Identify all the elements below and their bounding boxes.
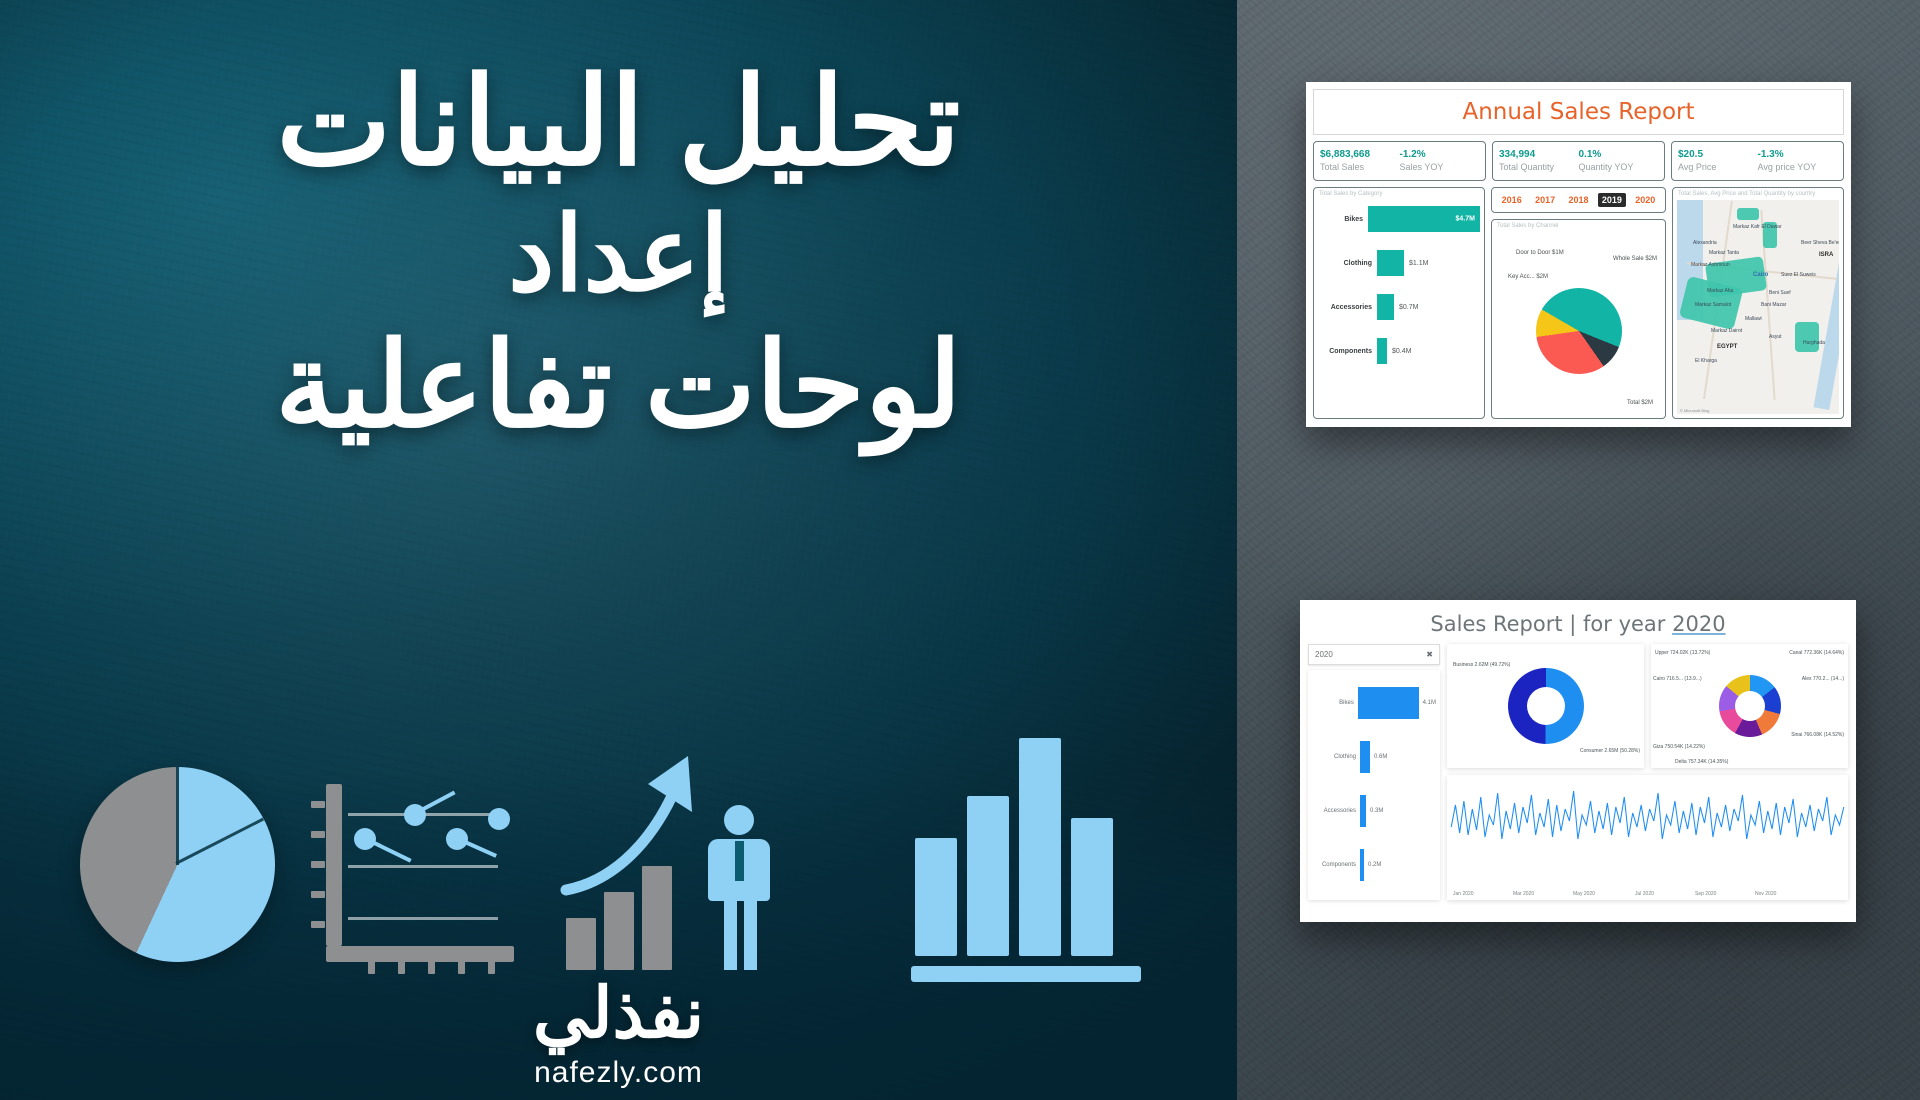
map-label: Beni Suef xyxy=(1769,290,1791,296)
line-chart-icon-tick xyxy=(311,891,325,898)
map-attribution: © Microsoft Bing xyxy=(1680,408,1709,413)
bar-track: $1.1M xyxy=(1377,250,1480,276)
hero-icon-row xyxy=(0,712,1237,982)
donut-row: Business 2.62M (49.72%) Consumer 2.65M (… xyxy=(1447,644,1848,768)
dashboard1-middle-column: 2016 2017 2018 2019 2020 Total Sales by … xyxy=(1491,187,1666,419)
bar-value-label: $1.1M xyxy=(1409,260,1428,267)
kpi-value-block: $6,883,668 Total Sales xyxy=(1320,146,1400,176)
bar-category-label: Clothing xyxy=(1318,260,1377,267)
bar-value-label: 0.6M xyxy=(1374,754,1387,760)
bar-fill xyxy=(1360,849,1364,881)
map-region-highlight xyxy=(1737,208,1759,220)
donut-label-business: Business 2.62M (49.72%) xyxy=(1453,662,1510,668)
line-chart-icon-point xyxy=(354,828,376,850)
line-chart-icon-gridline xyxy=(348,865,498,868)
x-axis-tick-label: Jan 2020 xyxy=(1453,891,1474,897)
bar-chart-icon xyxy=(905,712,1145,982)
pie-chart-title: Total Sales by Channel xyxy=(1492,220,1665,229)
kpi-delta-value: -1.2% xyxy=(1400,149,1480,162)
sales-report-2020-dashboard[interactable]: Sales Report | for year 2020 2020 ✖ Bike… xyxy=(1300,600,1856,922)
line-chart-graphic xyxy=(1447,775,1848,859)
kpi-delta-label: Quantity YOY xyxy=(1579,162,1659,173)
brand-name-arabic: نفذلي xyxy=(0,972,1237,1054)
kpi-card-row: $6,883,668 Total Sales -1.2% Sales YOY 3… xyxy=(1313,141,1844,181)
person-leg xyxy=(744,900,757,970)
bar-value-label: $0.7M xyxy=(1399,304,1418,311)
pie-chart-icon-divider-2 xyxy=(176,765,179,865)
sales-by-country-map[interactable]: Total Sales, Avg Price and Total Quantit… xyxy=(1672,187,1844,419)
line-chart-icon xyxy=(318,778,518,968)
year-option-2020[interactable]: 2020 xyxy=(1631,193,1659,207)
dashboard2-right-column: Business 2.62M (49.72%) Consumer 2.65M (… xyxy=(1447,644,1848,900)
bar-value-label: 0.2M xyxy=(1368,862,1381,868)
bar-category-label: Clothing xyxy=(1312,754,1360,760)
x-axis-tick-label: May 2020 xyxy=(1573,891,1595,897)
map-label: Markaz Ashmoun xyxy=(1691,262,1730,268)
year-slicer[interactable]: 2016 2017 2018 2019 2020 xyxy=(1491,187,1666,213)
donut-hole xyxy=(1527,687,1565,725)
bar-category-label: Components xyxy=(1312,862,1360,868)
map-label: Markaz Tanta xyxy=(1709,250,1739,256)
dashboard1-body: Total Sales by Category Bikes $4.7M Clot… xyxy=(1313,187,1844,419)
kpi-delta-label: Sales YOY xyxy=(1400,162,1480,173)
kpi-value-block: $20.5 Avg Price xyxy=(1678,146,1758,176)
map-label-cairo: Cairo xyxy=(1753,272,1768,278)
person-head xyxy=(724,805,754,835)
year-option-2016[interactable]: 2016 xyxy=(1498,193,1526,207)
kpi-label: Total Quantity xyxy=(1499,162,1579,173)
bar-value-label: $0.4M xyxy=(1392,348,1411,355)
donut-label-alex: Alex 770.2... (14...) xyxy=(1802,676,1844,682)
bar-row[interactable]: Clothing $1.1M xyxy=(1314,241,1484,285)
donut-label-delta: Delta 757.34K (14.35%) xyxy=(1675,759,1728,765)
bar-row[interactable]: Bikes $4.7M xyxy=(1314,197,1484,241)
map-label: Markaz Samalot xyxy=(1695,302,1731,308)
line-chart-icon-point xyxy=(488,808,510,830)
bar-fill xyxy=(1360,741,1370,773)
bar-track: $0.7M xyxy=(1377,294,1480,320)
bar-chart-icon-bar xyxy=(1071,818,1113,956)
map-label: Alexandria xyxy=(1693,240,1717,246)
line-chart-icon-tick xyxy=(311,801,325,808)
kpi-value-block: 334,994 Total Quantity xyxy=(1499,146,1579,176)
kpi-card-total-quantity[interactable]: 334,994 Total Quantity 0.1% Quantity YOY xyxy=(1492,141,1665,181)
map-label: Markaz Dairot xyxy=(1711,328,1742,334)
map-label: Asyut xyxy=(1769,334,1782,340)
sales-by-category-bar-chart-2020[interactable]: Bikes 4.1M Clothing 0.6M Accessories 0.3… xyxy=(1308,670,1440,900)
brand-logo: نفذلي nafezly.com xyxy=(0,972,1237,1090)
sales-by-channel-pie-chart[interactable]: Total Sales by Channel Key Acc... $2M Do… xyxy=(1491,219,1666,419)
year-filter-slicer[interactable]: 2020 ✖ xyxy=(1308,644,1440,665)
hero-title-line-3: لوحات تفاعلية xyxy=(0,316,1237,458)
bar-row[interactable]: Components 0.2M xyxy=(1312,838,1436,892)
bar-chart-title: Total Sales by Category xyxy=(1314,188,1484,197)
region-donut-graphic xyxy=(1719,675,1781,737)
dashboard2-left-column: 2020 ✖ Bikes 4.1M Clothing 0.6M xyxy=(1308,644,1440,900)
pie-label-total: Total $2M xyxy=(1627,400,1653,408)
bar-value-label: $4.7M xyxy=(1456,216,1475,223)
hero-title-line-2: إعداد xyxy=(0,194,1237,317)
bar-category-label: Bikes xyxy=(1312,700,1358,706)
bar-fill xyxy=(1377,250,1404,276)
x-axis-tick-label: Mar 2020 xyxy=(1513,891,1534,897)
kpi-value: 334,994 xyxy=(1499,149,1579,162)
bar-track: $0.4M xyxy=(1377,338,1480,364)
bar-row[interactable]: Components $0.4M xyxy=(1314,329,1484,373)
hero-panel: تحليل البيانات إعداد لوحات تفاعلية xyxy=(0,0,1237,1100)
kpi-delta-block: 0.1% Quantity YOY xyxy=(1579,146,1659,176)
x-axis-tick-label: Sep 2020 xyxy=(1695,891,1716,897)
kpi-card-avg-price[interactable]: $20.5 Avg Price -1.3% Avg price YOY xyxy=(1671,141,1844,181)
bar-row[interactable]: Accessories $0.7M xyxy=(1314,285,1484,329)
segment-donut-graphic xyxy=(1508,668,1584,744)
pie-label-door-to-door: Door to Door $1M xyxy=(1516,250,1564,258)
donut-label-upper: Upper 724.02K (13.72%) xyxy=(1655,650,1710,656)
map-title: Total Sales, Avg Price and Total Quantit… xyxy=(1673,188,1843,197)
map-region-highlight xyxy=(1795,322,1819,352)
bar-fill xyxy=(1377,294,1394,320)
x-axis-tick-label: Jul 2020 xyxy=(1635,891,1654,897)
kpi-delta-value: 0.1% xyxy=(1579,149,1659,162)
year-option-2017[interactable]: 2017 xyxy=(1531,193,1559,207)
bar-fill: $4.7M xyxy=(1368,206,1480,232)
donut-label-sinai: Sinai 766.08K (14.52%) xyxy=(1791,732,1844,738)
bar-chart-icon-bar xyxy=(967,796,1009,956)
kpi-delta-label: Avg price YOY xyxy=(1758,162,1838,173)
map-label: Hurghada xyxy=(1803,340,1825,346)
sales-by-category-bar-chart[interactable]: Total Sales by Category Bikes $4.7M Clot… xyxy=(1313,187,1485,419)
brand-domain: nafezly.com xyxy=(0,1056,1237,1090)
bar-category-label: Components xyxy=(1318,348,1377,355)
map-label: Markaz Abu xyxy=(1707,288,1733,294)
line-chart-icon-tick xyxy=(311,831,325,838)
line-chart-icon-gridline xyxy=(348,917,498,920)
sales-by-region-donut[interactable]: Canal 772.36K (14.64%) Alex 770.2... (14… xyxy=(1651,644,1848,768)
businessperson-icon xyxy=(700,805,780,970)
pie-label-whole-sale: Whole Sale $2M xyxy=(1613,256,1657,264)
pie-chart-graphic xyxy=(1536,288,1622,374)
line-chart-icon-point xyxy=(404,804,426,826)
line-chart-icon-point xyxy=(446,828,468,850)
map-label: Mallawi xyxy=(1745,316,1762,322)
bar-track: $4.7M xyxy=(1368,206,1480,232)
kpi-delta-value: -1.3% xyxy=(1758,149,1838,162)
pie-label-key-account: Key Acc... $2M xyxy=(1508,274,1548,282)
donut-label-canal: Canal 772.36K (14.64%) xyxy=(1789,650,1844,656)
year-option-2019-selected[interactable]: 2019 xyxy=(1598,193,1626,207)
bar-row[interactable]: Clothing 0.6M xyxy=(1312,730,1436,784)
bar-fill xyxy=(1358,687,1419,719)
line-chart-icon-x-axis xyxy=(326,946,514,962)
bar-value-label: 4.1M xyxy=(1423,700,1436,706)
kpi-value: $6,883,668 xyxy=(1320,149,1400,162)
map-label: ISRA xyxy=(1819,252,1833,258)
donut-label-giza: Giza 750.54K (14.22%) xyxy=(1653,744,1705,750)
banner-stage: تحليل البيانات إعداد لوحات تفاعلية xyxy=(0,0,1920,1100)
bar-value-label: 0.3M xyxy=(1370,808,1383,814)
bar-category-label: Accessories xyxy=(1318,304,1377,311)
hero-title: تحليل البيانات إعداد لوحات تفاعلية xyxy=(0,52,1237,458)
bar-row[interactable]: Accessories 0.3M xyxy=(1312,784,1436,838)
x-axis-tick-label: Nov 2020 xyxy=(1755,891,1776,897)
kpi-delta-block: -1.3% Avg price YOY xyxy=(1758,146,1838,176)
dashboard2-title-year: 2020 xyxy=(1672,612,1725,636)
donut-hole xyxy=(1735,691,1765,721)
kpi-label: Total Sales xyxy=(1320,162,1400,173)
donut-label-cairo: Cairo 716.5... (13.9...) xyxy=(1653,676,1702,682)
map-label: El Kharga xyxy=(1695,358,1717,364)
bar-category-label: Bikes xyxy=(1318,216,1368,223)
bar-fill xyxy=(1360,795,1366,827)
person-leg xyxy=(724,900,737,970)
sales-over-time-line-chart[interactable]: Jan 2020 Mar 2020 May 2020 Jul 2020 Sep … xyxy=(1447,775,1848,900)
map-label: Markaz Kafr El Dawar xyxy=(1733,224,1782,230)
donut-label-consumer: Consumer 2.65M (50.28%) xyxy=(1580,748,1640,754)
map-label: Beer Sheva Be'er Sheva xyxy=(1801,240,1839,246)
sales-by-segment-donut[interactable]: Business 2.62M (49.72%) Consumer 2.65M (… xyxy=(1447,644,1644,768)
map-label-country: EGYPT xyxy=(1717,344,1737,350)
bar-chart-icon-bar xyxy=(915,838,957,956)
year-option-2018[interactable]: 2018 xyxy=(1564,193,1592,207)
hero-title-line-1: تحليل البيانات xyxy=(0,52,1237,194)
person-tie xyxy=(735,841,744,881)
dashboard2-body: 2020 ✖ Bikes 4.1M Clothing 0.6M xyxy=(1308,644,1848,900)
bar-category-label: Accessories xyxy=(1312,808,1360,814)
bar-row[interactable]: Bikes 4.1M xyxy=(1312,676,1436,730)
map-label: Bani Mazar xyxy=(1761,302,1786,308)
bar-fill xyxy=(1377,338,1387,364)
kpi-delta-block: -1.2% Sales YOY xyxy=(1400,146,1480,176)
dashboard1-title-bar: Annual Sales Report xyxy=(1313,89,1844,135)
map-canvas[interactable]: Markaz Kafr El Dawar Alexandria Markaz T… xyxy=(1677,200,1839,414)
dashboard2-title: Sales Report | for year 2020 xyxy=(1308,608,1848,644)
dashboard1-title: Annual Sales Report xyxy=(1462,99,1694,125)
annual-sales-report-dashboard[interactable]: Annual Sales Report $6,883,668 Total Sal… xyxy=(1306,82,1851,427)
kpi-label: Avg Price xyxy=(1678,162,1758,173)
line-chart-icon-tick xyxy=(311,861,325,868)
bar-chart-icon-bar xyxy=(1019,738,1061,956)
dashboard2-title-prefix: Sales Report | for year xyxy=(1430,612,1672,636)
kpi-card-total-sales[interactable]: $6,883,668 Total Sales -1.2% Sales YOY xyxy=(1313,141,1486,181)
line-chart-icon-y-axis xyxy=(326,784,342,946)
year-filter-value: 2020 xyxy=(1315,650,1333,659)
clear-filter-icon[interactable]: ✖ xyxy=(1426,650,1433,659)
kpi-value: $20.5 xyxy=(1678,149,1758,162)
map-label: Suez El Suweis xyxy=(1781,272,1816,278)
line-chart-icon-tick xyxy=(311,921,325,928)
